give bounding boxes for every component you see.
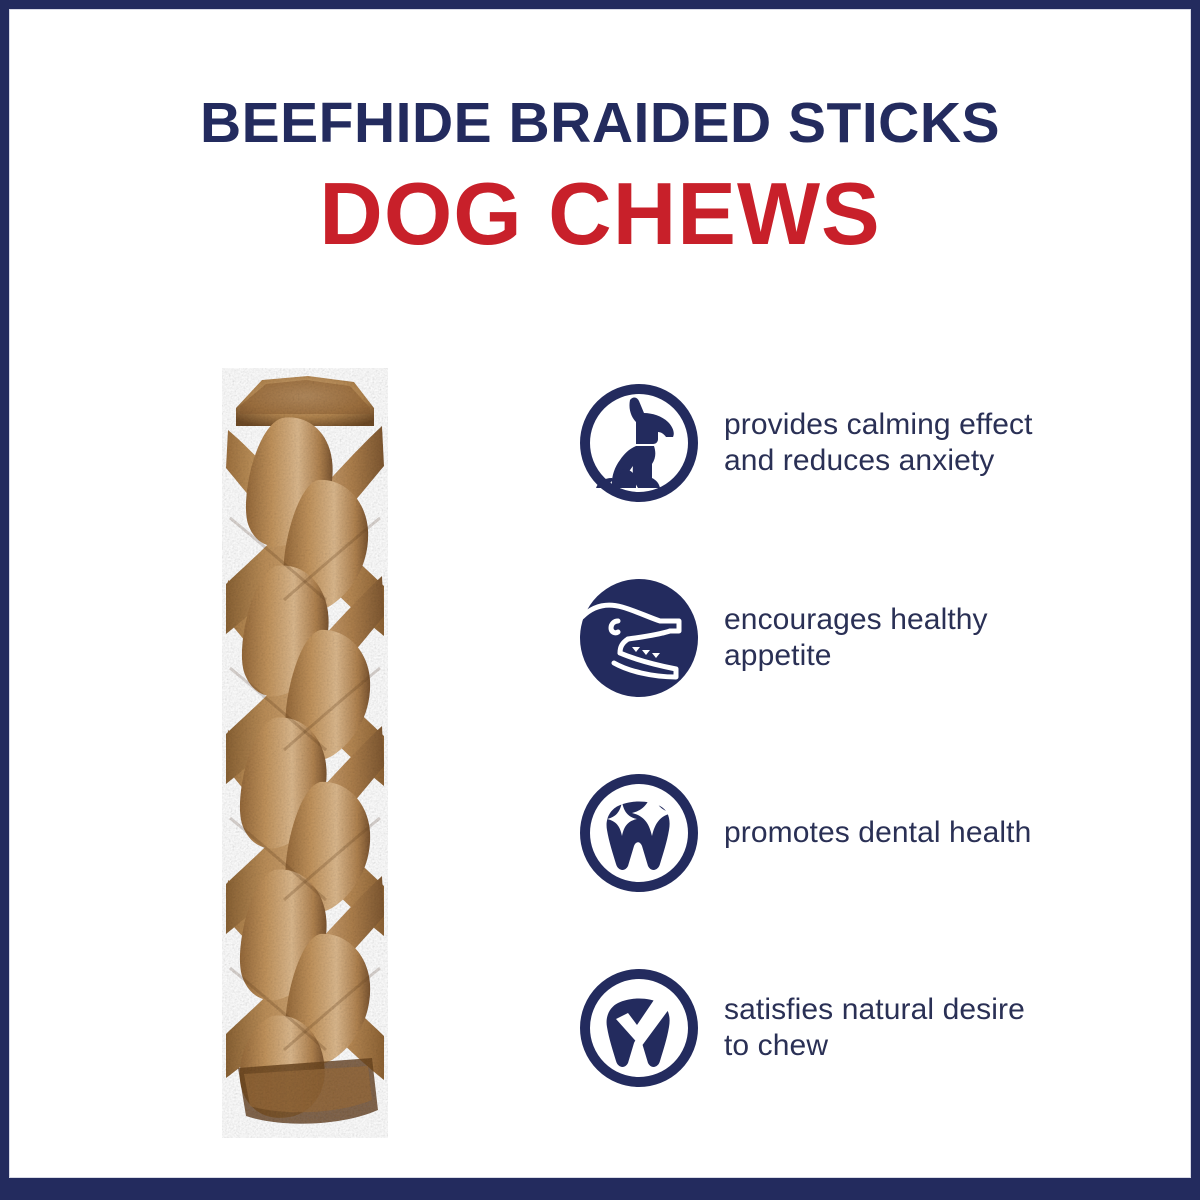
headline-secondary: DOG CHEWS [0,168,1200,260]
braided-stick-illustration [222,368,388,1138]
benefit-label-line1: promotes dental health [724,815,1031,851]
benefit-label: encourages healthy appetite [724,602,988,674]
benefit-label: promotes dental health [724,815,1031,851]
benefits-list: provides calming effect and reduces anxi… [578,382,1138,1089]
benefit-label-line1: encourages healthy [724,602,988,638]
dog-head-open-mouth-icon [578,577,700,699]
benefit-item: encourages healthy appetite [578,577,1138,699]
headline-primary: BEEFHIDE BRAIDED STICKS [0,92,1200,154]
product-image [215,368,395,1138]
benefit-label-line2: and reduces anxiety [724,443,1033,479]
benefit-item: satisfies natural desire to chew [578,967,1138,1089]
sitting-dog-icon [578,382,700,504]
tooth-checkmark-icon [578,967,700,1089]
product-feature-panel: BEEFHIDE BRAIDED STICKS DOG CHEWS [0,0,1200,1200]
border-bottom [0,1178,1200,1200]
benefit-item: provides calming effect and reduces anxi… [578,382,1138,504]
benefit-item: promotes dental health [578,772,1138,894]
benefit-label: provides calming effect and reduces anxi… [724,407,1033,479]
sparkling-tooth-icon [578,772,700,894]
benefit-label: satisfies natural desire to chew [724,992,1025,1064]
benefit-label-line2: to chew [724,1028,1025,1064]
benefit-label-line2: appetite [724,638,988,674]
headline-block: BEEFHIDE BRAIDED STICKS DOG CHEWS [0,92,1200,260]
border-top [0,0,1200,9]
benefit-label-line1: satisfies natural desire [724,992,1025,1028]
benefit-label-line1: provides calming effect [724,407,1033,443]
